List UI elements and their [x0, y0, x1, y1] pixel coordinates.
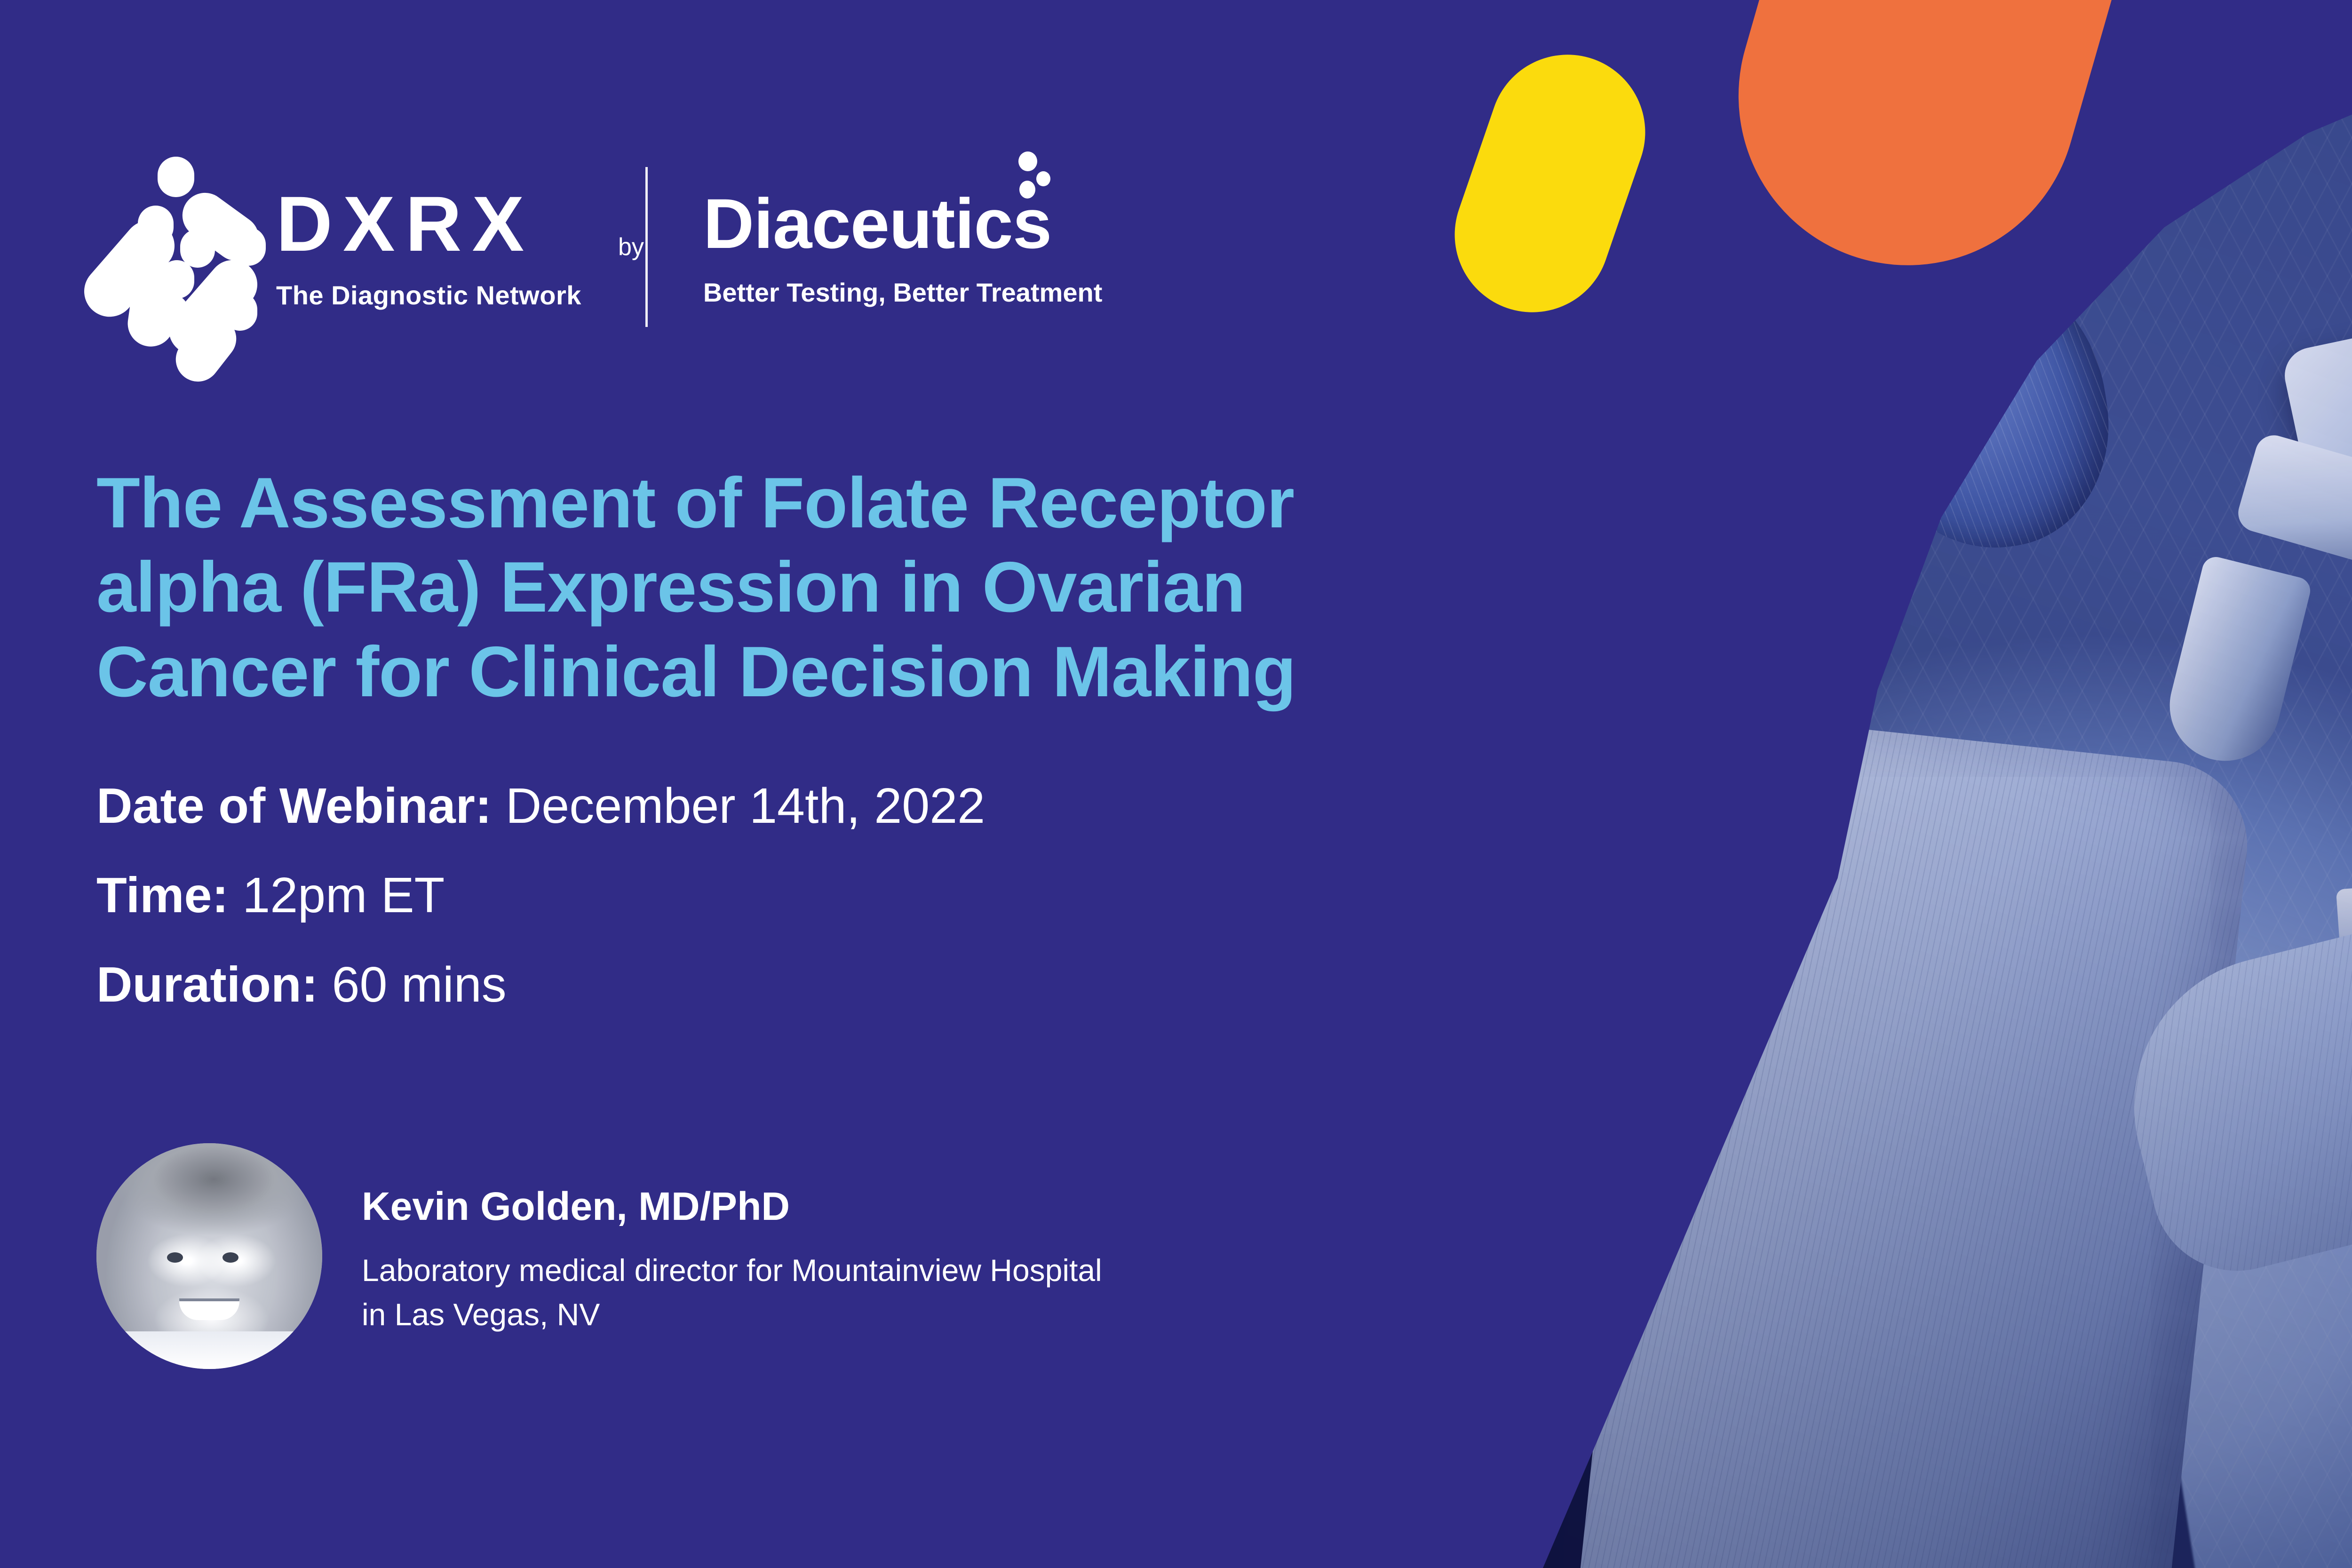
- by-label: by: [618, 233, 644, 261]
- detail-row-duration: Duration: 60 mins: [96, 960, 1357, 1010]
- avatar-collar: [96, 1331, 322, 1369]
- detail-value-duration: 60 mins: [332, 957, 507, 1012]
- brand-divider: [645, 167, 648, 327]
- dxrx-tagline: The Diagnostic Network: [276, 282, 590, 309]
- avatar-eye-left: [167, 1252, 183, 1263]
- detail-value-time: 12pm ET: [242, 868, 445, 923]
- content-column: DXRX The Diagnostic Network by Diaceutic…: [0, 0, 1496, 1568]
- diaceutics-block: Diaceutics Better Testing, Better Treatm…: [703, 188, 1102, 306]
- detail-value-date: December 14th, 2022: [506, 778, 985, 834]
- dxrx-logo-mark: [96, 153, 252, 341]
- orange-blob-shape: [1699, 0, 2159, 305]
- webinar-details: Date of Webinar: December 14th, 2022 Tim…: [96, 781, 1357, 1049]
- speaker-bio: Laboratory medical director for Mountain…: [362, 1249, 1102, 1337]
- webinar-promo-banner: 19: [0, 0, 2352, 1568]
- diaceutics-dots-icon: [995, 151, 1051, 203]
- webinar-title: The Assessment of Folate Receptor alpha …: [96, 461, 1357, 714]
- detail-label-time: Time:: [96, 868, 229, 923]
- speaker-text: Kevin Golden, MD/PhD Laboratory medical …: [362, 1143, 1102, 1337]
- avatar-smile: [179, 1301, 239, 1320]
- speaker-bio-line-1: Laboratory medical director for Mountain…: [362, 1249, 1102, 1293]
- diaceutics-wordmark: Diaceutics: [703, 188, 1102, 259]
- detail-label-date: Date of Webinar:: [96, 778, 492, 834]
- avatar-eye-right: [222, 1252, 238, 1263]
- dxrx-wordmark-block: DXRX The Diagnostic Network: [276, 185, 590, 309]
- speaker-bio-line-2: in Las Vegas, NV: [362, 1293, 1102, 1337]
- detail-label-duration: Duration:: [96, 957, 318, 1012]
- detail-row-time: Time: 12pm ET: [96, 870, 1357, 920]
- speaker-name: Kevin Golden, MD/PhD: [362, 1186, 1102, 1226]
- brand-lockup: DXRX The Diagnostic Network by Diaceutic…: [96, 153, 1102, 341]
- speaker-block: Kevin Golden, MD/PhD Laboratory medical …: [96, 1143, 1102, 1369]
- dxrx-wordmark: DXRX: [276, 185, 590, 263]
- detail-row-date: Date of Webinar: December 14th, 2022: [96, 781, 1357, 831]
- avatar: [96, 1143, 322, 1369]
- diaceutics-tagline: Better Testing, Better Treatment: [703, 279, 1102, 306]
